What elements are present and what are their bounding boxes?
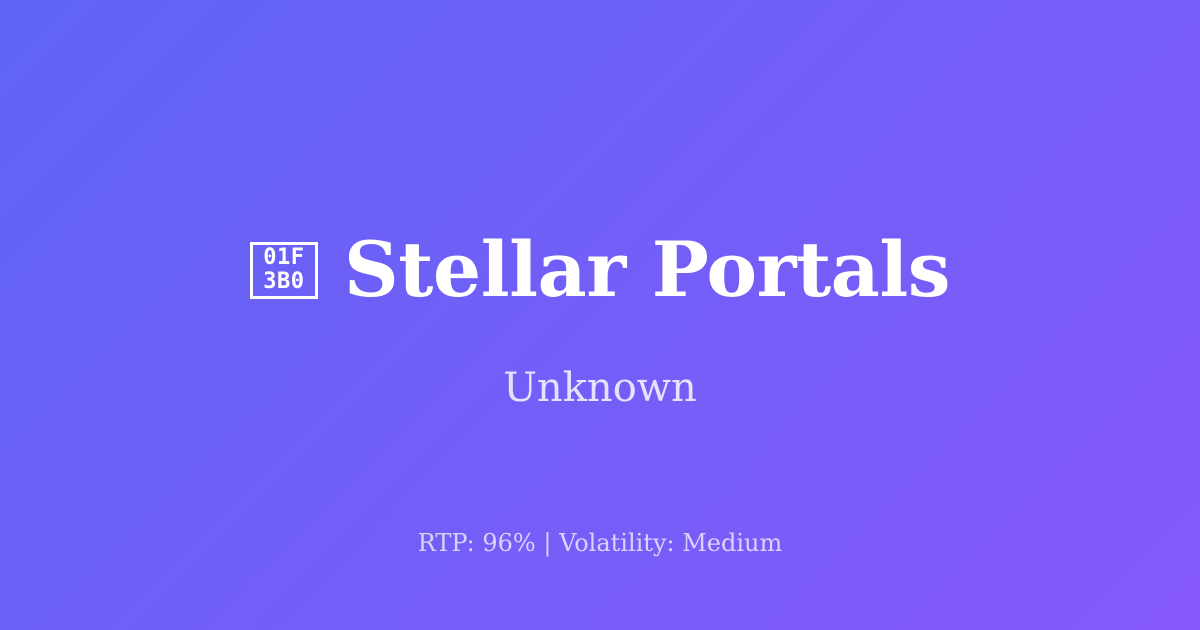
game-stats: RTP: 96% | Volatility: Medium: [0, 528, 1200, 559]
provider-label: Unknown: [0, 364, 1200, 412]
slot-machine-icon: 01F 3B0: [250, 242, 318, 299]
game-preview-card: 01F 3B0 Stellar Portals Unknown RTP: 96%…: [0, 0, 1200, 630]
slot-machine-icon-hex-top: 01F: [263, 246, 304, 270]
page-title: Stellar Portals: [344, 232, 950, 308]
title-row: 01F 3B0 Stellar Portals: [0, 232, 1200, 308]
slot-machine-icon-hex-bottom: 3B0: [263, 270, 304, 294]
